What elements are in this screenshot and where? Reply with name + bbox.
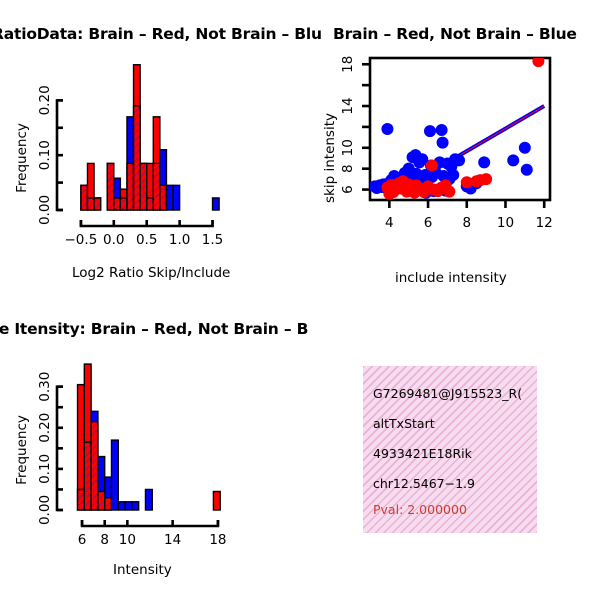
x-tick-label: 12 xyxy=(536,215,553,231)
histogram-bar-overlap xyxy=(84,442,91,510)
x-tick-label: 1.5 xyxy=(202,232,223,248)
histogram-bar xyxy=(125,502,132,510)
y-tick-label: 8 xyxy=(340,164,356,173)
histogram-bar-overlap xyxy=(94,198,101,210)
histogram-bar-overlap xyxy=(134,106,141,210)
histogram-bar-overlap xyxy=(140,163,147,210)
x-tick-label: 18 xyxy=(209,532,226,548)
histogram-bar xyxy=(112,440,119,510)
y-tick-label: 14 xyxy=(340,97,356,114)
histogram-bar-overlap xyxy=(105,498,112,510)
scatter-point xyxy=(507,154,519,166)
x-tick-label: −0.5 xyxy=(65,232,98,248)
x-tick-label: 10 xyxy=(119,532,136,548)
scatter-point xyxy=(519,142,531,154)
ratio-histogram-canvas: 0.000.100.20−0.50.00.51.01.5 xyxy=(0,20,300,260)
panel-ratio-histogram: RatioData: Brain – Red, Not Brain – Blu … xyxy=(0,20,300,310)
ratio-histogram-xlabel: Log2 Ratio Skip/Include xyxy=(72,265,230,281)
histogram-bar xyxy=(145,489,152,510)
y-tick-label: 0.00 xyxy=(37,195,53,225)
info-line-gene-symbol: 4933421E18Rik xyxy=(373,446,472,461)
x-tick-label: 6 xyxy=(78,532,87,548)
histogram-bar-overlap xyxy=(81,185,88,210)
panel-gene-intensity-histogram: ne Itensity: Brain – Red, Not Brain – B … xyxy=(0,312,300,600)
x-tick-label: 14 xyxy=(164,532,181,548)
x-tick-label: 8 xyxy=(462,215,471,231)
scatter-point xyxy=(426,160,438,172)
histogram-bar-overlap xyxy=(107,163,114,210)
scatter-xlabel: include intensity xyxy=(395,270,507,286)
scatter-point xyxy=(447,169,459,181)
info-line-locus: chr12.5467−1.9 xyxy=(373,476,475,491)
histogram-bar-overlap xyxy=(87,198,94,210)
histogram-bar xyxy=(166,185,173,210)
scatter-point xyxy=(478,156,490,168)
y-tick-label: 0.10 xyxy=(37,454,53,484)
gene-info-panel: G7269481@J915523_R( altTxStart 4933421E1… xyxy=(363,366,537,533)
y-tick-label: 10 xyxy=(340,139,356,156)
y-tick-label: 0.20 xyxy=(37,85,53,115)
histogram-bar xyxy=(173,185,180,210)
histogram-bar-overlap xyxy=(120,198,127,210)
info-line-event-type: altTxStart xyxy=(373,416,435,431)
scatter-point xyxy=(521,164,533,176)
histogram-bar xyxy=(213,198,220,210)
x-axis-line xyxy=(82,520,218,526)
info-line-pval: Pval: 2.000000 xyxy=(373,502,467,517)
histogram-bar-overlap xyxy=(127,163,134,210)
y-tick-label: 0.10 xyxy=(37,140,53,170)
histogram-bar-overlap xyxy=(114,198,121,210)
histogram-bar xyxy=(213,492,220,511)
y-tick-label: 6 xyxy=(340,185,356,194)
x-tick-label: 0.5 xyxy=(136,232,157,248)
scatter-point xyxy=(437,137,449,149)
histogram-bar-overlap xyxy=(153,163,160,210)
y-tick-label: 0.30 xyxy=(37,372,53,402)
histogram-bar-overlap xyxy=(91,422,98,510)
scatter-point xyxy=(424,125,436,137)
x-tick-label: 1.0 xyxy=(169,232,190,248)
x-tick-label: 0.0 xyxy=(103,232,124,248)
x-tick-label: 6 xyxy=(424,215,433,231)
histogram-bar-overlap xyxy=(160,185,167,210)
x-tick-label: 8 xyxy=(100,532,109,548)
scatter-point xyxy=(443,186,455,198)
scatter-point xyxy=(453,154,465,166)
x-tick-label: 4 xyxy=(385,215,394,231)
histogram-bar-overlap xyxy=(98,492,105,511)
panel-intensity-scatter: Brain – Red, Not Brain – Blue skip inten… xyxy=(300,20,600,310)
histogram-bar-overlap xyxy=(147,198,154,210)
y-tick-label: 0.00 xyxy=(37,495,53,525)
scatter-point xyxy=(480,173,492,185)
histogram-bar-overlap xyxy=(78,489,85,510)
scatter-canvas: 681014184681012 xyxy=(300,20,600,265)
scatter-point xyxy=(436,124,448,136)
info-line-probe: G7269481@J915523_R( xyxy=(373,386,522,401)
gene-intensity-canvas: 0.000.100.200.3068101418 xyxy=(0,350,300,595)
y-tick-label: 0.20 xyxy=(37,413,53,443)
histogram-bar xyxy=(132,502,139,510)
gene-intensity-title: ne Itensity: Brain – Red, Not Brain – B xyxy=(0,320,308,338)
x-tick-label: 10 xyxy=(497,215,514,231)
y-tick-label: 18 xyxy=(340,56,356,73)
scatter-point xyxy=(381,123,393,135)
histogram-bar xyxy=(118,502,125,510)
